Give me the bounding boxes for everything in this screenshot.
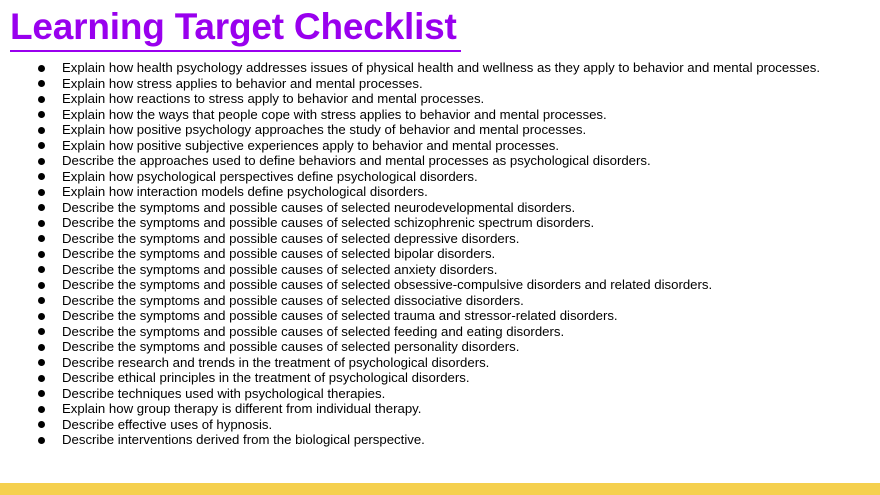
list-item: Describe the approaches used to define b… bbox=[0, 153, 880, 169]
list-item-label: Explain how positive subjective experien… bbox=[62, 138, 860, 154]
list-item-label: Describe the symptoms and possible cause… bbox=[62, 246, 860, 262]
list-item-label: Explain how health psychology addresses … bbox=[62, 60, 860, 76]
list-item: Describe effective uses of hypnosis. bbox=[0, 417, 880, 433]
list-item-label: Describe the symptoms and possible cause… bbox=[62, 293, 860, 309]
list-item: Explain how health psychology addresses … bbox=[0, 60, 880, 76]
list-item: Describe the symptoms and possible cause… bbox=[0, 262, 880, 278]
filled-circle-bullet-icon bbox=[38, 344, 45, 351]
list-item-label: Describe the symptoms and possible cause… bbox=[62, 262, 860, 278]
list-item: Describe the symptoms and possible cause… bbox=[0, 231, 880, 247]
list-item: Describe the symptoms and possible cause… bbox=[0, 277, 880, 293]
list-item: Describe the symptoms and possible cause… bbox=[0, 293, 880, 309]
list-item-label: Explain how stress applies to behavior a… bbox=[62, 76, 860, 92]
list-item-label: Explain how interaction models define ps… bbox=[62, 184, 860, 200]
list-item-label: Describe the symptoms and possible cause… bbox=[62, 324, 860, 340]
filled-circle-bullet-icon bbox=[38, 390, 45, 397]
filled-circle-bullet-icon bbox=[38, 142, 45, 149]
filled-circle-bullet-icon bbox=[38, 251, 45, 258]
list-item-label: Describe ethical principles in the treat… bbox=[62, 370, 860, 386]
filled-circle-bullet-icon bbox=[38, 297, 45, 304]
filled-circle-bullet-icon bbox=[38, 328, 45, 335]
list-item: Explain how stress applies to behavior a… bbox=[0, 76, 880, 92]
list-item: Describe interventions derived from the … bbox=[0, 432, 880, 448]
filled-circle-bullet-icon bbox=[38, 437, 45, 444]
list-item-label: Describe the symptoms and possible cause… bbox=[62, 200, 860, 216]
list-item-label: Describe the symptoms and possible cause… bbox=[62, 215, 860, 231]
list-item: Explain how the ways that people cope wi… bbox=[0, 107, 880, 123]
learning-target-list: Explain how health psychology addresses … bbox=[0, 60, 880, 448]
filled-circle-bullet-icon bbox=[38, 204, 45, 211]
list-item-label: Describe techniques used with psychologi… bbox=[62, 386, 860, 402]
filled-circle-bullet-icon bbox=[38, 282, 45, 289]
list-item: Explain how psychological perspectives d… bbox=[0, 169, 880, 185]
list-item-label: Explain how group therapy is different f… bbox=[62, 401, 860, 417]
filled-circle-bullet-icon bbox=[38, 189, 45, 196]
filled-circle-bullet-icon bbox=[38, 421, 45, 428]
list-item: Describe ethical principles in the treat… bbox=[0, 370, 880, 386]
filled-circle-bullet-icon bbox=[38, 158, 45, 165]
list-item-label: Explain how reactions to stress apply to… bbox=[62, 91, 860, 107]
list-item: Describe the symptoms and possible cause… bbox=[0, 246, 880, 262]
list-item: Describe research and trends in the trea… bbox=[0, 355, 880, 371]
list-item-label: Describe the symptoms and possible cause… bbox=[62, 308, 860, 324]
filled-circle-bullet-icon bbox=[38, 375, 45, 382]
list-item-label: Describe effective uses of hypnosis. bbox=[62, 417, 860, 433]
filled-circle-bullet-icon bbox=[38, 111, 45, 118]
filled-circle-bullet-icon bbox=[38, 173, 45, 180]
list-item-label: Describe the symptoms and possible cause… bbox=[62, 231, 860, 247]
filled-circle-bullet-icon bbox=[38, 235, 45, 242]
list-item: Describe techniques used with psychologi… bbox=[0, 386, 880, 402]
list-item: Describe the symptoms and possible cause… bbox=[0, 200, 880, 216]
list-item: Explain how interaction models define ps… bbox=[0, 184, 880, 200]
list-item-label: Describe the approaches used to define b… bbox=[62, 153, 860, 169]
filled-circle-bullet-icon bbox=[38, 359, 45, 366]
list-item-label: Describe the symptoms and possible cause… bbox=[62, 277, 860, 293]
page-title: Learning Target Checklist bbox=[10, 5, 461, 52]
filled-circle-bullet-icon bbox=[38, 96, 45, 103]
list-item-label: Describe the symptoms and possible cause… bbox=[62, 339, 860, 355]
filled-circle-bullet-icon bbox=[38, 406, 45, 413]
list-item-label: Describe research and trends in the trea… bbox=[62, 355, 860, 371]
filled-circle-bullet-icon bbox=[38, 80, 45, 87]
list-item-label: Explain how positive psychology approach… bbox=[62, 122, 860, 138]
list-item: Explain how positive psychology approach… bbox=[0, 122, 880, 138]
list-item: Describe the symptoms and possible cause… bbox=[0, 324, 880, 340]
filled-circle-bullet-icon bbox=[38, 65, 45, 72]
list-item: Describe the symptoms and possible cause… bbox=[0, 215, 880, 231]
filled-circle-bullet-icon bbox=[38, 220, 45, 227]
list-item: Describe the symptoms and possible cause… bbox=[0, 308, 880, 324]
filled-circle-bullet-icon bbox=[38, 313, 45, 320]
list-item: Explain how positive subjective experien… bbox=[0, 138, 880, 154]
list-item: Explain how group therapy is different f… bbox=[0, 401, 880, 417]
filled-circle-bullet-icon bbox=[38, 266, 45, 273]
slide-canvas: Learning Target Checklist Explain how he… bbox=[0, 0, 880, 495]
list-item-label: Explain how the ways that people cope wi… bbox=[62, 107, 860, 123]
list-item: Explain how reactions to stress apply to… bbox=[0, 91, 880, 107]
list-item-label: Describe interventions derived from the … bbox=[62, 432, 860, 448]
list-item-label: Explain how psychological perspectives d… bbox=[62, 169, 860, 185]
filled-circle-bullet-icon bbox=[38, 127, 45, 134]
list-item: Describe the symptoms and possible cause… bbox=[0, 339, 880, 355]
bottom-accent-bar bbox=[0, 483, 880, 495]
